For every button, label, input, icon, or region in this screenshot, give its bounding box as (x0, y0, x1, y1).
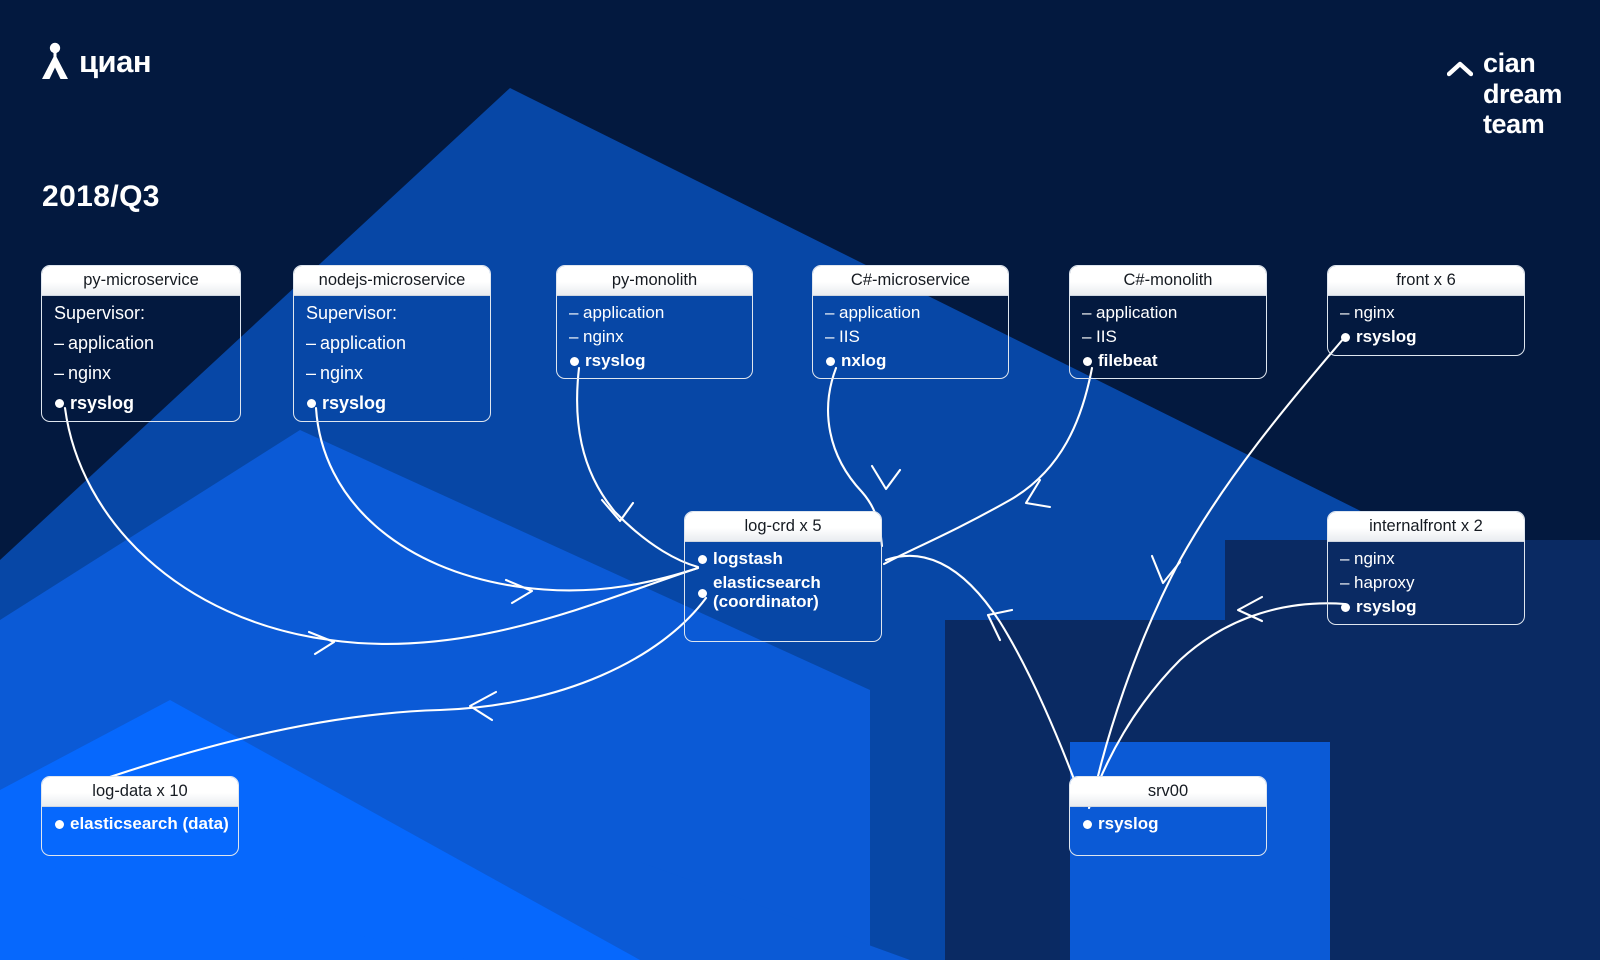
node-title-log-crd: log-crd x 5 (685, 512, 881, 542)
node-row-front-1: rsyslog (1340, 328, 1514, 345)
node-body-srv00: rsyslog (1070, 807, 1266, 841)
node-body-csharp-microservice: applicationIISnxlog (813, 296, 1008, 378)
node-body-log-data: elasticsearch (data) (42, 807, 238, 841)
node-body-front: nginxrsyslog (1328, 296, 1524, 354)
cian-dream-team-logo: cian dream team (1447, 48, 1562, 140)
node-row-nodejs-microservice-0: Supervisor: (306, 304, 480, 322)
cian-pin-person-icon (40, 42, 70, 80)
cian-logo: циан (40, 42, 151, 80)
slide-canvas: циан cian dream team 2018/Q3 .e { fill:n… (0, 0, 1600, 960)
node-row-py-microservice-0: Supervisor: (54, 304, 230, 322)
background-decoration (0, 0, 1600, 960)
node-row-log-data-0: elasticsearch (data) (54, 815, 228, 832)
node-body-py-monolith: applicationnginxrsyslog (557, 296, 752, 378)
node-box-log-crd[interactable]: log-crd x 5logstashelasticsearch (coordi… (684, 511, 882, 642)
node-box-csharp-microservice[interactable]: C#-microserviceapplicationIISnxlog (812, 265, 1009, 379)
node-row-internalfront-0: nginx (1340, 550, 1514, 567)
node-box-log-data[interactable]: log-data x 10elasticsearch (data) (41, 776, 239, 856)
node-row-log-crd-0: logstash (697, 550, 871, 567)
node-row-internalfront-1: haproxy (1340, 574, 1514, 591)
node-body-csharp-monolith: applicationIISfilebeat (1070, 296, 1266, 378)
node-row-py-monolith-1: nginx (569, 328, 742, 345)
node-row-nodejs-microservice-3: rsyslog (306, 394, 480, 412)
node-row-csharp-monolith-0: application (1082, 304, 1256, 321)
chevron-up-icon (1447, 60, 1473, 78)
node-row-csharp-microservice-0: application (825, 304, 998, 321)
cian-dream-team-wordmark: cian dream team (1483, 48, 1562, 140)
node-box-nodejs-microservice[interactable]: nodejs-microserviceSupervisor:applicatio… (293, 265, 491, 422)
node-row-csharp-monolith-1: IIS (1082, 328, 1256, 345)
node-title-csharp-monolith: C#-monolith (1070, 266, 1266, 296)
node-row-py-microservice-2: nginx (54, 364, 230, 382)
cdt-line-3: team (1483, 109, 1562, 140)
node-body-py-microservice: Supervisor:applicationnginxrsyslog (42, 296, 240, 421)
node-row-py-monolith-0: application (569, 304, 742, 321)
cdt-line-2: dream (1483, 79, 1562, 110)
node-title-front: front x 6 (1328, 266, 1524, 296)
node-row-srv00-0: rsyslog (1082, 815, 1256, 832)
node-title-log-data: log-data x 10 (42, 777, 238, 807)
node-row-internalfront-2: rsyslog (1340, 598, 1514, 615)
node-title-srv00: srv00 (1070, 777, 1266, 807)
node-row-log-crd-1: elasticsearch (coordinator) (697, 574, 871, 611)
node-row-front-0: nginx (1340, 304, 1514, 321)
node-row-csharp-monolith-2: filebeat (1082, 352, 1256, 369)
node-body-log-crd: logstashelasticsearch (coordinator) (685, 542, 881, 620)
node-body-nodejs-microservice: Supervisor:applicationnginxrsyslog (294, 296, 490, 421)
period-label: 2018/Q3 (42, 180, 160, 214)
node-title-py-monolith: py-monolith (557, 266, 752, 296)
node-title-nodejs-microservice: nodejs-microservice (294, 266, 490, 296)
node-row-nodejs-microservice-1: application (306, 334, 480, 352)
node-title-internalfront: internalfront x 2 (1328, 512, 1524, 542)
node-row-py-microservice-3: rsyslog (54, 394, 230, 412)
node-row-csharp-microservice-2: nxlog (825, 352, 998, 369)
node-row-nodejs-microservice-2: nginx (306, 364, 480, 382)
node-row-py-microservice-1: application (54, 334, 230, 352)
node-box-py-monolith[interactable]: py-monolithapplicationnginxrsyslog (556, 265, 753, 379)
node-box-py-microservice[interactable]: py-microserviceSupervisor:applicationngi… (41, 265, 241, 422)
node-box-front[interactable]: front x 6nginxrsyslog (1327, 265, 1525, 356)
node-box-srv00[interactable]: srv00rsyslog (1069, 776, 1267, 856)
cdt-line-1: cian (1483, 48, 1562, 79)
node-title-csharp-microservice: C#-microservice (813, 266, 1008, 296)
node-title-py-microservice: py-microservice (42, 266, 240, 296)
cian-logo-wordmark: циан (79, 46, 151, 77)
node-row-py-monolith-2: rsyslog (569, 352, 742, 369)
node-box-internalfront[interactable]: internalfront x 2nginxhaproxyrsyslog (1327, 511, 1525, 625)
node-body-internalfront: nginxhaproxyrsyslog (1328, 542, 1524, 624)
node-box-csharp-monolith[interactable]: C#-monolithapplicationIISfilebeat (1069, 265, 1267, 379)
node-row-csharp-microservice-1: IIS (825, 328, 998, 345)
